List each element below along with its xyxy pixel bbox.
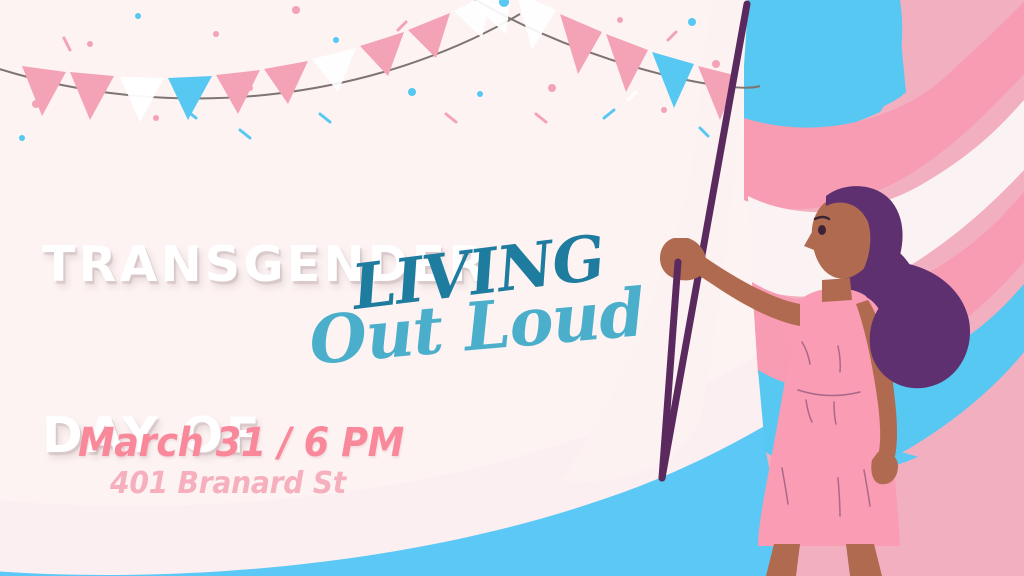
neck [822, 278, 852, 302]
leg-right [846, 544, 882, 576]
event-address: 401 Branard St [110, 466, 346, 501]
fist [660, 238, 706, 280]
event-date-time: March 31 / 6 PM [78, 420, 404, 466]
leg-left [766, 544, 800, 576]
eye [818, 225, 826, 235]
event-poster: TRANSGENDER DAY OF VISIBILITY LIVING Out… [0, 0, 1024, 576]
